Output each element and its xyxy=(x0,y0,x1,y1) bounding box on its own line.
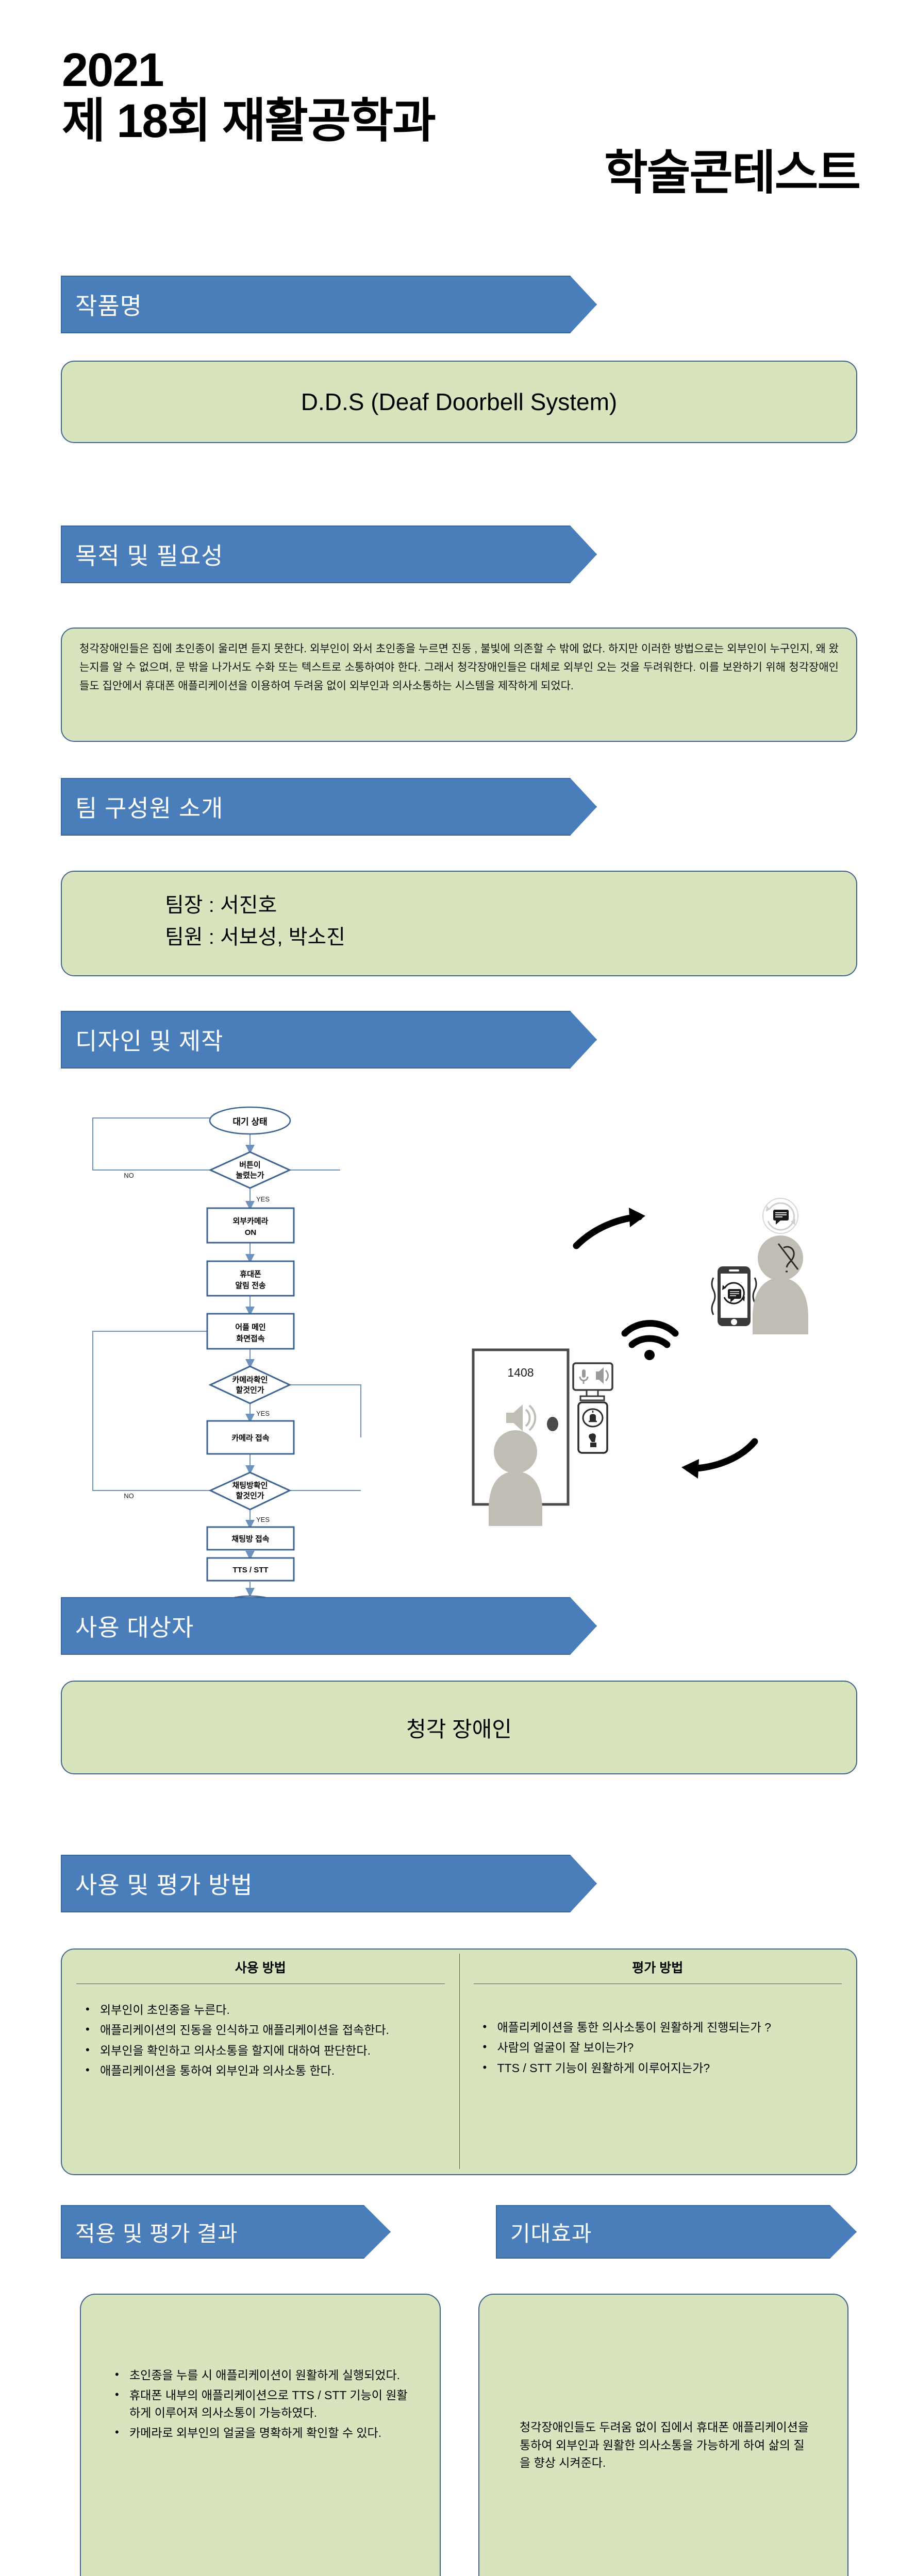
svg-text:외부카메라: 외부카메라 xyxy=(232,1216,268,1226)
section-header-team-label: 팀 구성원 소개 xyxy=(75,790,223,824)
method-column-usage: 사용 방법 외부인이 초인종을 누른다. 애플리케이션의 진동을 인식하고 애플… xyxy=(62,1950,459,2174)
svg-text:ON: ON xyxy=(245,1228,257,1237)
svg-text:알림 전송: 알림 전송 xyxy=(235,1281,266,1290)
purpose-box: 청각장애인들은 집에 초인종이 울리면 듣지 못한다. 외부인이 와서 초인종을… xyxy=(61,628,857,742)
svg-text:화면접속: 화면접속 xyxy=(236,1334,264,1343)
poster-title-block: 2021 제 18회 재활공학과 학술콘테스트 xyxy=(62,46,866,199)
svg-text:채팅방 접속: 채팅방 접속 xyxy=(231,1534,269,1544)
team-lines: 팀장 : 서진호 팀원 : 서보성, 박소진 xyxy=(62,872,856,953)
svg-text:대기 상태: 대기 상태 xyxy=(232,1117,267,1127)
users-text: 청각 장애인 xyxy=(62,1682,856,1773)
results-list: 초인종을 누를 시 애플리케이션이 원활하게 실행되었다. 휴대폰 내부의 애플… xyxy=(81,2295,440,2442)
title-year: 2021 xyxy=(62,46,866,94)
title-line-2: 제 18회 재활공학과 xyxy=(62,96,866,147)
section-header-work-title: 작품명 xyxy=(61,276,597,333)
smartphone-icon xyxy=(712,1266,756,1326)
section-header-effects: 기대효과 xyxy=(496,2205,857,2259)
svg-text:NO: NO xyxy=(124,1172,134,1179)
effects-box: 청각장애인들도 두려움 없이 집에서 휴대폰 애플리케이션을 통하여 외부인과 … xyxy=(478,2294,848,2576)
svg-text:YES: YES xyxy=(256,1195,270,1203)
list-item: 외부인이 초인종을 누른다. xyxy=(82,2002,454,2019)
effects-text: 청각장애인들도 두려움 없이 집에서 휴대폰 애플리케이션을 통하여 외부인과 … xyxy=(479,2295,847,2472)
deaf-user-silhouette xyxy=(753,1235,808,1334)
camera-mic-icon xyxy=(573,1363,612,1400)
svg-text:카메라 접속: 카메라 접속 xyxy=(231,1433,269,1443)
svg-text:TTS / STT: TTS / STT xyxy=(232,1566,268,1574)
section-header-effects-label: 기대효과 xyxy=(510,2216,592,2248)
title-line-3: 학술콘테스트 xyxy=(62,148,866,199)
purpose-text: 청각장애인들은 집에 초인종이 울리면 듣지 못한다. 외부인이 와서 초인종을… xyxy=(62,629,856,707)
svg-text:휴대폰: 휴대폰 xyxy=(240,1270,261,1279)
users-box: 청각 장애인 xyxy=(61,1681,857,1774)
svg-text:YES: YES xyxy=(256,1516,270,1523)
svg-text:버튼이: 버튼이 xyxy=(239,1161,260,1170)
svg-text:카메라확인: 카메라확인 xyxy=(232,1375,268,1384)
list-item: 외부인을 확인하고 의사소통을 할지에 대하여 판단한다. xyxy=(82,2042,454,2059)
list-item: TTS / STT 기능이 원활하게 이루어지는가? xyxy=(480,2060,852,2077)
system-illustration: 1408 xyxy=(443,1180,851,1535)
list-item: 애플리케이션을 통한 의사소통이 원활하게 진행되는가 ? xyxy=(480,2019,852,2036)
svg-text:눌렸는가: 눌렸는가 xyxy=(236,1171,264,1180)
list-item: 카메라로 외부인의 얼굴을 명확하게 확인할 수 있다. xyxy=(112,2425,418,2442)
svg-text:할것인가: 할것인가 xyxy=(236,1385,264,1395)
doorbell-icon xyxy=(578,1402,607,1453)
door-knob xyxy=(547,1417,558,1431)
svg-text:할것인가: 할것인가 xyxy=(236,1491,264,1500)
curved-arrow-left-icon xyxy=(681,1442,755,1479)
list-item: 휴대폰 내부의 애플리케이션으로 TTS / STT 기능이 원활하게 이루어져… xyxy=(112,2387,418,2421)
section-header-results: 적용 및 평가 결과 xyxy=(61,2205,391,2259)
section-header-design: 디자인 및 제작 xyxy=(61,1011,597,1069)
wifi-dot xyxy=(644,1350,655,1360)
method-column-evaluation-title: 평가 방법 xyxy=(459,1950,857,1976)
section-header-design-label: 디자인 및 제작 xyxy=(75,1023,223,1057)
design-flowchart: 대기 상태 버튼이 눌렸는가 NO YES 외부카메라 ON 휴대폰 알림 전송… xyxy=(72,1103,402,1577)
svg-text:채팅방확인: 채팅방확인 xyxy=(232,1481,268,1490)
method-column-usage-title: 사용 방법 xyxy=(62,1950,459,1976)
flow-node-d1 xyxy=(210,1152,290,1188)
work-title-box: D.D.S (Deaf Doorbell System) xyxy=(61,361,857,443)
section-header-team: 팀 구성원 소개 xyxy=(61,778,597,836)
list-item: 사람의 얼굴이 잘 보이는가? xyxy=(480,2039,852,2056)
method-evaluation-list: 애플리케이션을 통한 의사소통이 원활하게 진행되는가 ? 사람의 얼굴이 잘 … xyxy=(459,2019,857,2077)
wifi-icon xyxy=(625,1324,675,1345)
flow-node-d3 xyxy=(210,1472,290,1510)
team-box: 팀장 : 서진호 팀원 : 서보성, 박소진 xyxy=(61,871,857,976)
flow-node-d2 xyxy=(210,1366,290,1403)
svg-text:어플 메인: 어플 메인 xyxy=(235,1323,265,1332)
team-leader: 팀장 : 서진호 xyxy=(165,889,856,921)
curved-arrow-right-icon xyxy=(576,1208,645,1246)
results-box: 초인종을 누를 시 애플리케이션이 원활하게 실행되었다. 휴대폰 내부의 애플… xyxy=(80,2294,441,2576)
method-column-evaluation-body: 애플리케이션을 통한 의사소통이 원활하게 진행되는가 ? 사람의 얼굴이 잘 … xyxy=(459,1984,857,2077)
svg-text:NO: NO xyxy=(124,1492,134,1500)
method-column-usage-body: 외부인이 초인종을 누른다. 애플리케이션의 진동을 인식하고 애플리케이션을 … xyxy=(62,1984,459,2079)
section-header-users-label: 사용 대상자 xyxy=(75,1609,194,1643)
method-box: 사용 방법 외부인이 초인종을 누른다. 애플리케이션의 진동을 인식하고 애플… xyxy=(61,1948,857,2175)
section-header-results-label: 적용 및 평가 결과 xyxy=(75,2216,238,2248)
method-table: 사용 방법 외부인이 초인종을 누른다. 애플리케이션의 진동을 인식하고 애플… xyxy=(62,1950,856,2174)
team-members: 팀원 : 서보성, 박소진 xyxy=(165,921,856,953)
method-column-evaluation: 평가 방법 애플리케이션을 통한 의사소통이 원활하게 진행되는가 ? 사람의 … xyxy=(459,1950,857,2174)
door-number: 1408 xyxy=(507,1366,534,1379)
work-title-text: D.D.S (Deaf Doorbell System) xyxy=(62,362,856,442)
poster-root: 2021 제 18회 재활공학과 학술콘테스트 작품명 D.D.S (Deaf … xyxy=(0,0,916,2576)
section-header-method-label: 사용 및 평가 방법 xyxy=(75,1867,253,1901)
section-header-purpose-label: 목적 및 필요성 xyxy=(75,537,223,571)
section-header-work-title-label: 작품명 xyxy=(75,287,142,321)
list-item: 애플리케이션의 진동을 인식하고 애플리케이션을 접속한다. xyxy=(82,2022,454,2039)
list-item: 애플리케이션을 통하여 외부인과 의사소통 한다. xyxy=(82,2062,454,2079)
method-usage-list: 외부인이 초인종을 누른다. 애플리케이션의 진동을 인식하고 애플리케이션을 … xyxy=(62,2002,459,2079)
section-header-method: 사용 및 평가 방법 xyxy=(61,1855,597,1912)
chat-refresh-icon xyxy=(763,1198,798,1233)
list-item: 초인종을 누를 시 애플리케이션이 원활하게 실행되었다. xyxy=(112,2367,418,2384)
section-header-purpose: 목적 및 필요성 xyxy=(61,526,597,583)
section-header-users: 사용 대상자 xyxy=(61,1597,597,1655)
svg-text:YES: YES xyxy=(256,1410,270,1417)
